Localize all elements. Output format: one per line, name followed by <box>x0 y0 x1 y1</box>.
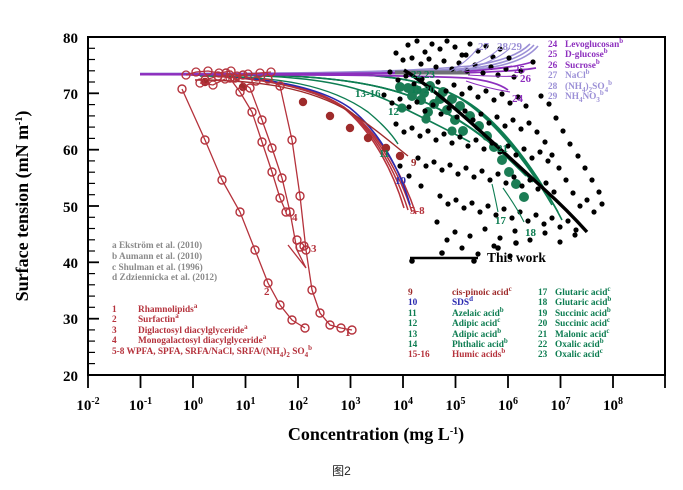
svg-text:40: 40 <box>63 256 78 272</box>
plot-annotation-19: 19 <box>411 84 422 96</box>
x-axis-ticks <box>88 375 665 388</box>
reference-item: a Ekström et al. (2010) <box>112 241 217 252</box>
svg-text:60: 60 <box>63 143 78 159</box>
svg-text:20: 20 <box>63 369 78 385</box>
legend-item-15-16: 15-16Humic acidsb <box>408 350 512 360</box>
this-work-label: This work <box>487 250 546 266</box>
reference-item: c Shulman et al. (1996) <box>112 263 217 274</box>
legend-item-18: 18Glutaric acidb <box>538 298 611 308</box>
plot-annotation-13-16: 13-16 <box>355 88 381 100</box>
legend-item-17: 17Glutaric acidc <box>538 288 611 298</box>
legend-right: 17Glutaric acidc 18Glutaric acidb 19Succ… <box>538 288 611 361</box>
plot-annotation-18: 18 <box>525 227 536 239</box>
legend-item-13: 13Adipic acidb <box>408 330 512 340</box>
legend-left: 1Rhamnolipidsa 2Surfactina 3Diglactosyl … <box>112 305 266 347</box>
svg-text:30: 30 <box>63 312 78 328</box>
figure-container: 80 70 60 50 40 30 20 10-2 10-1 100 101 1… <box>0 0 683 490</box>
svg-text:103: 103 <box>341 396 361 414</box>
legend-item-23: 23Oxalic acidc <box>538 350 611 360</box>
plot-annotation-1: 1 <box>345 327 351 339</box>
plot-annotation-4: 4 <box>292 212 298 224</box>
plot-annotation-23: 23 <box>424 69 435 81</box>
svg-text:104: 104 <box>393 396 413 414</box>
legend-item-3: 3Diglactosyl diacylglyceridea <box>112 326 266 336</box>
reference-item: d Zdziennicka et al. (2012) <box>112 273 217 284</box>
svg-text:106: 106 <box>498 396 518 414</box>
svg-text:100: 100 <box>183 396 203 414</box>
plot-annotation-28_29: 28/29 <box>497 41 522 53</box>
svg-text:50: 50 <box>63 200 78 216</box>
x-axis-title: Concentration (mg L-1) <box>288 424 464 445</box>
svg-text:105: 105 <box>446 396 466 414</box>
legend-item-19: 19Succinic acidb <box>538 309 611 319</box>
legend-item-28: 28(NH4)2SO4b <box>548 82 623 92</box>
plot-annotation-27: 27 <box>478 41 489 53</box>
svg-text:80: 80 <box>63 31 78 47</box>
plot-annotation-17: 17 <box>495 215 506 227</box>
svg-text:10-1: 10-1 <box>129 396 152 414</box>
plot-annotation-3: 3 <box>311 243 317 255</box>
svg-text:101: 101 <box>236 396 256 414</box>
x-tick-labels: 10-2 10-1 100 101 102 103 104 105 106 10… <box>76 396 623 414</box>
legend-item-10: 10SDSd <box>408 298 512 308</box>
plot-annotation-2: 2 <box>264 286 270 298</box>
y-tick-labels: 80 70 60 50 40 30 20 <box>63 31 78 385</box>
svg-text:107: 107 <box>551 396 571 414</box>
plot-annotation-9: 9 <box>411 157 417 169</box>
figure-caption: 图2 <box>0 462 683 479</box>
svg-text:70: 70 <box>63 87 78 103</box>
plot-annotation-10: 10 <box>395 175 406 187</box>
legend-item-25: 25D-glucoseb <box>548 50 623 60</box>
plot-annotation-11: 11 <box>379 148 389 160</box>
plot-annotation-20: 20 <box>424 84 435 96</box>
plot-annotation-12: 12 <box>388 106 399 118</box>
svg-text:108: 108 <box>603 396 623 414</box>
legend-item-14: 14Phthalic acidb <box>408 340 512 350</box>
svg-text:102: 102 <box>288 396 308 414</box>
legend-item-9: 9cis-pinoic acidc <box>408 288 512 298</box>
y-axis-title: Surface tension (mN m-1) <box>12 111 33 302</box>
plot-annotation-26: 26 <box>520 73 531 85</box>
legend-item-20: 20Succinic acidc <box>538 319 611 329</box>
legend-item-4: 4Monogalactosyl diacylglyceridea <box>112 336 266 346</box>
svg-text:10-2: 10-2 <box>76 396 99 414</box>
plot-annotation-22: 22 <box>411 69 422 81</box>
plot-annotation-21: 21 <box>497 143 508 155</box>
legend-item-1: 1Rhamnolipidsa <box>112 305 266 315</box>
plot-annotation-24: 24 <box>512 93 523 105</box>
legend-item-5-8: 5-8 WPFA, SPFA, SRFA/NaCl, SRFA/(NH4)2 S… <box>112 347 312 357</box>
reference-list: a Ekström et al. (2010) b Aumann et al. … <box>112 241 217 284</box>
legend-item-24: 24Levoglucosanb <box>548 40 623 50</box>
reference-item: b Aumann et al. (2010) <box>112 252 217 263</box>
legend-top-right: 24Levoglucosanb 25D-glucoseb 26Sucroseb … <box>548 40 623 102</box>
legend-mid: 9cis-pinoic acidc 10SDSd 11Azelaic acidb… <box>408 288 512 361</box>
legend-item-29: 29NH4NO3b <box>548 92 623 102</box>
plot-annotation-5-8: 5-8 <box>410 205 425 217</box>
